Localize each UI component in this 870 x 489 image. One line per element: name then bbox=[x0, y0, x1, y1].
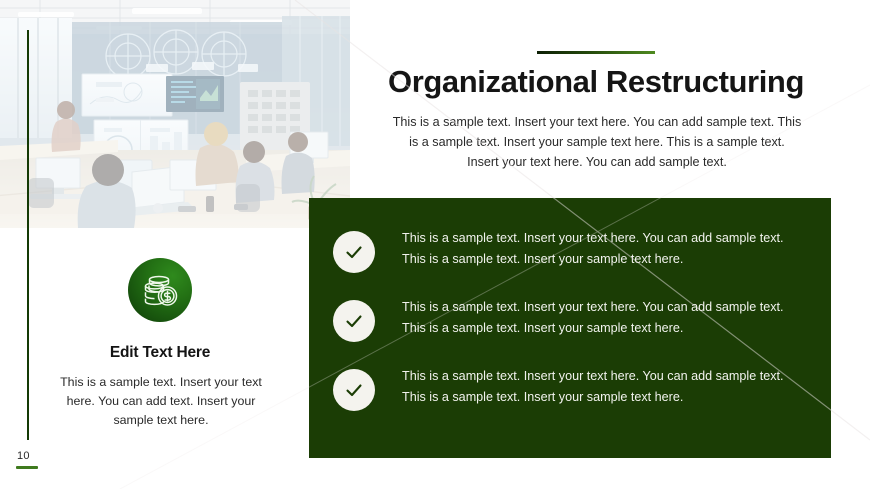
money-coins-icon bbox=[128, 258, 192, 322]
check-icon bbox=[333, 231, 375, 273]
left-accent-rule bbox=[27, 30, 29, 440]
office-workspace-photo bbox=[0, 0, 350, 228]
card-body-text: This is a sample text. Insert your text … bbox=[45, 373, 277, 430]
feature-panel: This is a sample text. Insert your text … bbox=[309, 198, 831, 458]
page-number: 10 bbox=[17, 450, 30, 462]
title-accent-rule bbox=[537, 51, 655, 54]
page-title: Organizational Restructuring bbox=[374, 62, 818, 102]
hero-image bbox=[0, 0, 350, 228]
list-item-text: This is a sample text. Insert your text … bbox=[402, 228, 806, 270]
list-item[interactable]: This is a sample text. Insert your text … bbox=[333, 228, 815, 273]
list-item-text: This is a sample text. Insert your text … bbox=[402, 297, 806, 339]
slide-canvas: Organizational Restructuring This is a s… bbox=[0, 0, 870, 489]
page-number-underline bbox=[16, 466, 38, 469]
check-icon bbox=[333, 369, 375, 411]
list-item-text: This is a sample text. Insert your text … bbox=[402, 366, 806, 408]
feature-list: This is a sample text. Insert your text … bbox=[333, 228, 815, 411]
check-icon bbox=[333, 300, 375, 342]
list-item[interactable]: This is a sample text. Insert your text … bbox=[333, 297, 815, 342]
card-title: Edit Text Here bbox=[30, 344, 290, 362]
list-item[interactable]: This is a sample text. Insert your text … bbox=[333, 366, 815, 411]
intro-paragraph: This is a sample text. Insert your text … bbox=[392, 112, 802, 172]
